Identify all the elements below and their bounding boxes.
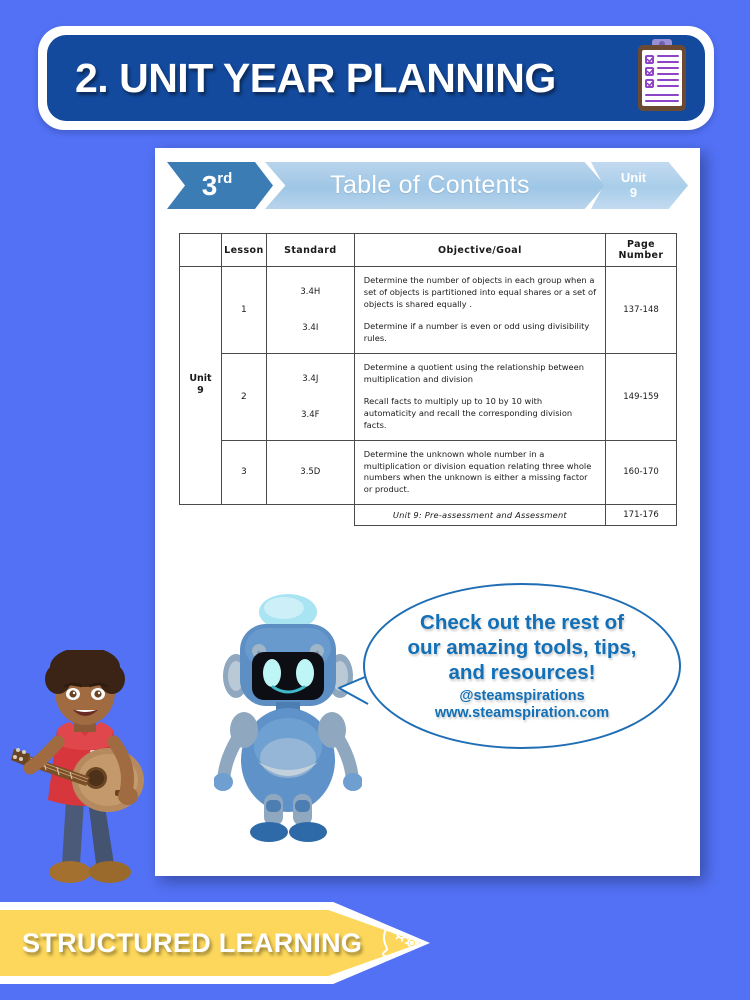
objective-text-2: Recall facts to multiply up to 10 by 10 … bbox=[364, 396, 596, 431]
head-with-gears-icon bbox=[378, 915, 424, 971]
unit-chevron-label: Unit bbox=[621, 171, 646, 186]
standard-bottom: 3.4F bbox=[269, 410, 352, 420]
standard-top: 3.4J bbox=[269, 374, 352, 384]
objective-text-2: Determine if a number is even or odd usi… bbox=[364, 321, 596, 345]
unit-chevron-number: 9 bbox=[630, 186, 637, 201]
unit-cell-label: Unit bbox=[189, 373, 211, 384]
table-header-standard: Standard bbox=[266, 234, 354, 267]
toc-ribbon: 3rd Table of Contents Unit 9 bbox=[167, 162, 688, 209]
page-number-cell: 160-170 bbox=[606, 440, 677, 504]
standard-bottom: 3.4I bbox=[269, 323, 352, 333]
objective-cell: Determine a quotient using the relations… bbox=[354, 353, 605, 440]
table-header-lesson: Lesson bbox=[221, 234, 266, 267]
unit-cell-number: 9 bbox=[197, 385, 204, 396]
bubble-line-1: Check out the rest of bbox=[396, 610, 648, 635]
page-number-cell: 149-159 bbox=[606, 353, 677, 440]
lesson-number: 2 bbox=[221, 353, 266, 440]
unit-chevron: Unit 9 bbox=[591, 162, 688, 209]
bubble-line-3: and resources! bbox=[425, 660, 620, 685]
header-banner: 2. UNIT YEAR PLANNING bbox=[38, 26, 714, 130]
standard-spacer bbox=[269, 297, 352, 323]
table-row: 2 3.4J 3.4F Determine a quotient using t… bbox=[180, 353, 677, 440]
assessment-label: Unit 9: Pre-assessment and Assessment bbox=[354, 504, 605, 525]
assessment-blank-unit bbox=[180, 504, 222, 525]
boy-with-guitar-icon bbox=[10, 650, 160, 895]
table-header-blank bbox=[180, 234, 222, 267]
footer-label: STRUCTURED LEARNING bbox=[22, 928, 362, 959]
table-header-objective: Objective/Goal bbox=[354, 234, 605, 267]
assessment-blank-standard bbox=[266, 504, 354, 525]
table-header-row: Lesson Standard Objective/Goal PageNumbe… bbox=[180, 234, 677, 267]
grade-suffix: rd bbox=[217, 171, 232, 186]
grade-number: 3 bbox=[202, 172, 218, 200]
website-url: www.steamspiration.com bbox=[435, 705, 609, 722]
objective-cell: Determine the unknown whole number in a … bbox=[354, 440, 605, 504]
table-of-contents-table: Lesson Standard Objective/Goal PageNumbe… bbox=[179, 233, 677, 526]
assessment-blank-lesson bbox=[221, 504, 266, 525]
lesson-number: 1 bbox=[221, 267, 266, 354]
robot-mascot-icon bbox=[214, 588, 362, 848]
table-header-page-number: PageNumber bbox=[606, 234, 677, 267]
footer-banner: STRUCTURED LEARNING bbox=[0, 902, 430, 984]
lesson-number: 3 bbox=[221, 440, 266, 504]
standard-cell: 3.5D bbox=[266, 440, 354, 504]
page-title: 2. UNIT YEAR PLANNING bbox=[75, 55, 633, 102]
page-number-cell: 137-148 bbox=[606, 267, 677, 354]
assessment-page-number: 171-176 bbox=[606, 504, 677, 525]
assessment-row: Unit 9: Pre-assessment and Assessment 17… bbox=[180, 504, 677, 525]
unit-cell: Unit 9 bbox=[180, 267, 222, 505]
standard-top: 3.5D bbox=[269, 467, 352, 477]
standard-cell: 3.4J 3.4F bbox=[266, 353, 354, 440]
speech-bubble: Check out the rest of our amazing tools,… bbox=[363, 583, 681, 749]
table-row: 3 3.5D Determine the unknown whole numbe… bbox=[180, 440, 677, 504]
standard-cell: 3.4H 3.4I bbox=[266, 267, 354, 354]
social-handle: @steamspirations bbox=[459, 688, 584, 705]
clipboard-checklist-icon bbox=[633, 39, 691, 117]
objective-text-1: Determine the unknown whole number in a … bbox=[364, 449, 596, 496]
grade-chevron: 3rd bbox=[167, 162, 273, 209]
objective-text-1: Determine a quotient using the relations… bbox=[364, 362, 596, 386]
objective-text-1: Determine the number of objects in each … bbox=[364, 275, 596, 310]
bubble-line-2: our amazing tools, tips, bbox=[384, 635, 661, 660]
toc-title: Table of Contents bbox=[330, 171, 540, 200]
header-banner-inner: 2. UNIT YEAR PLANNING bbox=[47, 35, 705, 121]
toc-title-chevron: Table of Contents bbox=[265, 162, 605, 209]
table-row: Unit 9 1 3.4H 3.4I Determine the number … bbox=[180, 267, 677, 354]
standard-spacer bbox=[269, 384, 352, 410]
standard-top: 3.4H bbox=[269, 287, 352, 297]
objective-cell: Determine the number of objects in each … bbox=[354, 267, 605, 354]
